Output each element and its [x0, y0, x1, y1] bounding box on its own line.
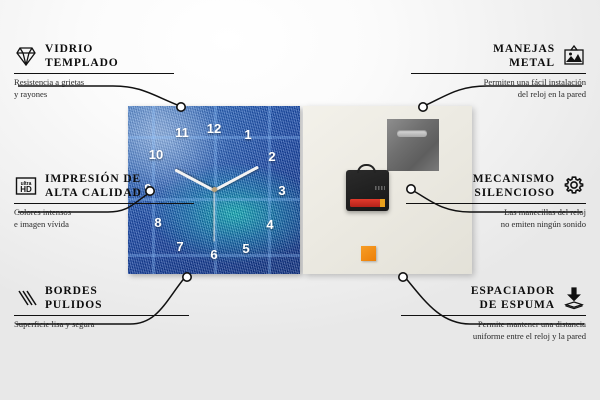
wall-frame-hanger-icon: [562, 44, 586, 68]
callout-title-line1: BORDES: [45, 284, 102, 298]
gear-icon: [562, 174, 586, 198]
callout-impresion-alta-calidad: ultra HD IMPRESIÓN DE ALTA CALIDAD Color…: [14, 172, 194, 231]
pattern-grid-line: [268, 106, 271, 274]
callout-desc-line2: e imagen vívida: [14, 219, 194, 231]
battery-terminal: [380, 199, 385, 207]
pattern-grid-line: [128, 136, 300, 139]
clock-numeral: 3: [274, 184, 290, 197]
leader-endpoint: [399, 273, 407, 281]
clock-numeral: 4: [262, 218, 278, 231]
callout-desc-line1: Permiten una fácil instalación: [411, 77, 586, 89]
leader-endpoint: [183, 273, 191, 281]
callout-manejas-metal: MANEJAS METAL Permiten una fácil instala…: [411, 42, 586, 101]
callout-title-line2: PULIDOS: [45, 298, 102, 312]
callout-desc-line2: y rayones: [14, 89, 174, 101]
clock-numeral: 5: [238, 242, 254, 255]
callout-title-line2: SILENCIOSO: [473, 186, 555, 200]
clock-numeral: 12: [206, 122, 222, 135]
clock-mechanism: [346, 170, 389, 211]
callout-desc-line1: Colores intensos: [14, 207, 194, 219]
callout-title-line1: VIDRIO: [45, 42, 119, 56]
callout-desc-line1: Resistencia a grietas: [14, 77, 174, 89]
ultra-hd-icon: ultra HD: [14, 174, 38, 198]
clock-numeral: 11: [174, 126, 190, 139]
callout-rule: [406, 203, 586, 204]
callout-rule: [14, 73, 174, 74]
callout-rule: [401, 315, 586, 316]
callout-title-line2: DE ESPUMA: [471, 298, 555, 312]
callout-espaciador-espuma: ESPACIADOR DE ESPUMA Permite mantener un…: [401, 284, 586, 343]
callout-desc-line1: Superficie lisa y segura: [14, 319, 189, 331]
foam-spacer: [361, 246, 376, 261]
clock-numeral: 7: [172, 240, 188, 253]
callout-title-line2: ALTA CALIDAD: [45, 186, 142, 200]
callout-desc-line1: Permite mantener una distancia: [401, 319, 586, 331]
clock-numeral: 10: [148, 148, 164, 161]
callout-bordes-pulidos: BORDES PULIDOS Superficie lisa y segura: [14, 284, 189, 331]
callout-title-line2: TEMPLADO: [45, 56, 119, 70]
callout-rule: [14, 315, 189, 316]
metal-hanger: [387, 119, 439, 171]
clock-numeral: 2: [264, 150, 280, 163]
infographic-canvas: 12 1 2 3 4 5 6 7 8 9 10 11: [0, 0, 600, 400]
callout-desc-line2: del reloj en la pared: [411, 89, 586, 101]
callout-desc-line1: Las manecillas del reloj: [406, 207, 586, 219]
mechanism-detail: [375, 186, 385, 190]
svg-text:HD: HD: [20, 185, 32, 194]
callout-desc-line2: no emiten ningún sonido: [406, 219, 586, 231]
clock-numeral: 6: [206, 248, 222, 261]
callout-title-line2: METAL: [493, 56, 555, 70]
clock-numeral: 1: [240, 128, 256, 141]
callout-title-line1: ESPACIADOR: [471, 284, 555, 298]
hanger-slot: [397, 130, 427, 137]
clock-center-pivot: [212, 187, 217, 192]
diamond-icon: [14, 44, 38, 68]
battery: [350, 199, 385, 207]
clock-second-hand: [213, 190, 214, 242]
callout-desc-line2: uniforme entre el reloj y la pared: [401, 331, 586, 343]
foam-spacer-arrow-icon: [562, 286, 586, 310]
callout-rule: [14, 203, 194, 204]
callout-vidrio-templado: VIDRIO TEMPLADO Resistencia a grietas y …: [14, 42, 174, 101]
callout-title-line1: MANEJAS: [493, 42, 555, 56]
mechanism-hook: [357, 164, 376, 173]
callout-mecanismo-silencioso: MECANISMO SILENCIOSO Las manecillas del …: [406, 172, 586, 231]
polished-edges-icon: [14, 286, 38, 310]
callout-title-line1: IMPRESIÓN DE: [45, 172, 142, 186]
callout-rule: [411, 73, 586, 74]
callout-title-line1: MECANISMO: [473, 172, 555, 186]
